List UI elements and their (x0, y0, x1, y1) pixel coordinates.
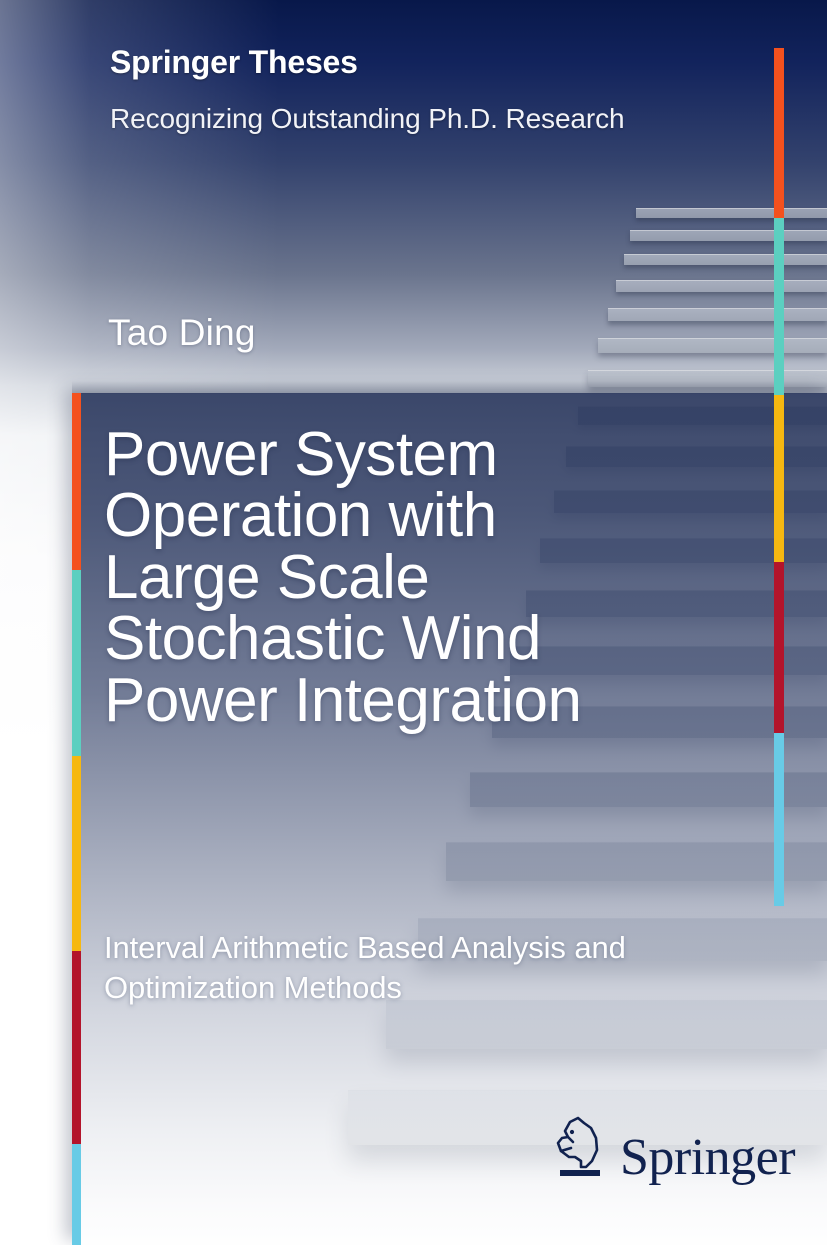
color-bar-segment-teal (72, 570, 81, 756)
color-bar-segment-orange (774, 48, 784, 218)
staircase-step (630, 230, 827, 241)
staircase-step (608, 308, 827, 321)
book-subtitle-line: Interval Arithmetic Based Analysis and (104, 928, 764, 968)
book-title-line: Large Scale (104, 547, 744, 608)
series-title: Springer Theses (110, 44, 358, 81)
book-title: Power System Operation with Large Scale … (104, 424, 744, 731)
staircase-step (624, 254, 827, 265)
staircase-step (636, 208, 827, 218)
book-cover: Springer Theses Recognizing Outstanding … (0, 0, 827, 1245)
color-bar-segment-gold (72, 756, 81, 951)
book-title-line: Power System (104, 424, 744, 485)
color-bar-segment-gold (774, 395, 784, 562)
left-color-bar (72, 393, 81, 1245)
color-bar-segment-skyblue (774, 733, 784, 906)
book-subtitle: Interval Arithmetic Based Analysis and O… (104, 928, 764, 1007)
series-subtitle: Recognizing Outstanding Ph.D. Research (110, 103, 625, 135)
book-title-line: Power Integration (104, 670, 744, 731)
book-subtitle-line: Optimization Methods (104, 968, 764, 1008)
staircase-step (588, 370, 827, 387)
author-name: Tao Ding (108, 312, 256, 354)
publisher-logo: Springer (548, 1112, 795, 1184)
color-bar-segment-crimson (72, 951, 81, 1144)
springer-wordmark: Springer (620, 1132, 795, 1184)
color-bar-segment-orange (72, 393, 81, 570)
staircase-step (616, 280, 827, 292)
book-title-line: Operation with (104, 485, 744, 546)
color-bar-segment-crimson (774, 562, 784, 733)
springer-knight-icon (548, 1112, 610, 1184)
book-title-line: Stochastic Wind (104, 608, 744, 669)
color-bar-segment-skyblue (72, 1144, 81, 1245)
staircase-step (598, 338, 827, 353)
right-color-bar (774, 48, 784, 906)
color-bar-segment-teal (774, 218, 784, 395)
